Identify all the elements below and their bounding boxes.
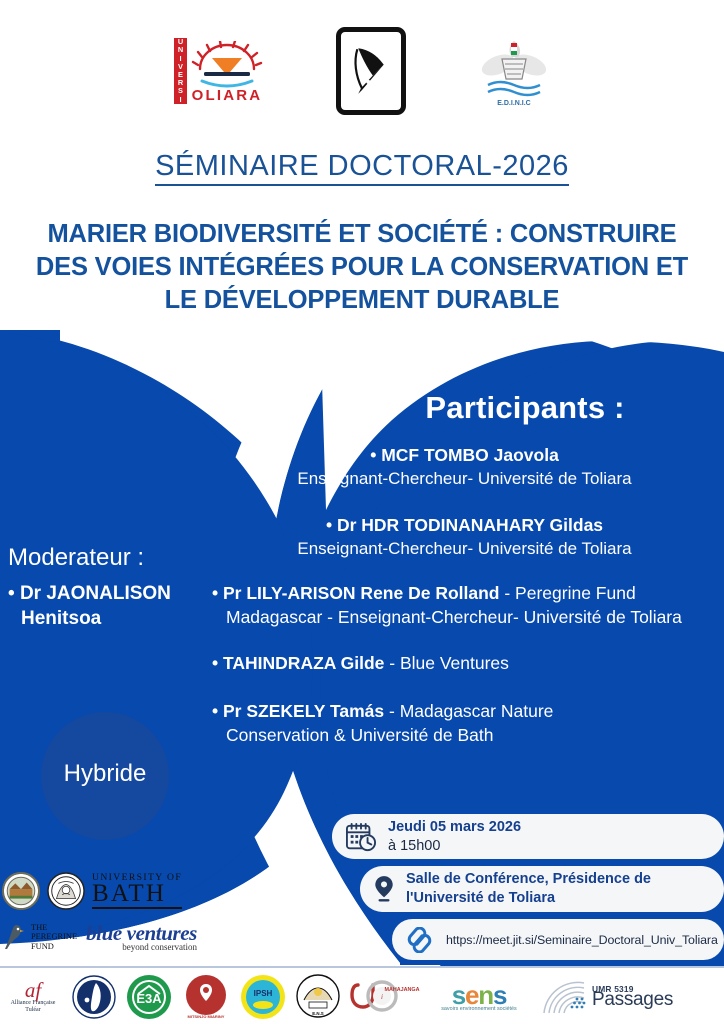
- pen-nib-logo: [336, 27, 406, 115]
- event-location-text: Salle de Conférence, Présidence de l'Uni…: [406, 870, 651, 908]
- participant-affiliation: Enseignant-Chercheur- Université de Toli…: [212, 467, 717, 491]
- event-time: à 15h00: [388, 837, 521, 856]
- svg-text:MAHAJANGA: MAHAJANGA: [384, 987, 419, 993]
- participant-item: Dr HDR TODINANAHARY Gildas Enseignant-Ch…: [212, 513, 717, 561]
- event-location-pill: Salle de Conférence, Présidence de l'Uni…: [360, 866, 724, 912]
- svg-text:E.D.I.N.I.C: E.D.I.N.I.C: [497, 100, 530, 107]
- toliara-vertical-text: UNIVERSI: [174, 38, 187, 104]
- sens-wordmark: sens: [441, 982, 517, 1008]
- e3a-logo: E3A: [126, 974, 172, 1020]
- moderator-name: Dr JAONALISON Henitsoa: [8, 581, 206, 631]
- universite-de-toliara-logo: UNIVERSI OLIARA: [174, 38, 264, 104]
- svg-text:i: i: [381, 993, 383, 1001]
- svg-text:E.N.S: E.N.S: [312, 1011, 324, 1016]
- moderator-block: Moderateur : Dr JAONALISON Henitsoa: [8, 543, 206, 631]
- page-title: MARIER BIODIVERSITÉ ET SOCIÉTÉ : CONSTRU…: [34, 218, 690, 317]
- participant-item: Pr LILY-ARISON Rene De Rolland - Peregri…: [212, 581, 682, 629]
- toliara-wordmark: OLIARA: [192, 87, 263, 104]
- header-logo-row: UNIVERSI OLIARA: [0, 28, 724, 114]
- af-monogram: af: [11, 980, 56, 1000]
- svg-text:MITSINJO MIARINY: MITSINJO MIARINY: [188, 1014, 225, 1019]
- madagascar-circle-logo: [72, 975, 116, 1019]
- link-chain-icon: [405, 927, 435, 953]
- participant-item: TAHINDRAZA Gilde - Blue Ventures: [212, 651, 717, 675]
- event-date-pill: Jeudi 05 mars 2026 à 15h00: [332, 814, 724, 859]
- bath-rule: [92, 907, 182, 909]
- moderator-list: Dr JAONALISON Henitsoa: [8, 581, 206, 631]
- the-peregrine-fund-logo: THE PEREGRINE FUND: [2, 922, 77, 952]
- ipsh-logo: IPSH: [240, 974, 286, 1020]
- edinic-emblem-icon: E.D.I.N.I.C: [478, 35, 550, 107]
- passages-wave-icon: [538, 977, 590, 1017]
- falcon-icon: [2, 922, 28, 952]
- seminar-kicker: SÉMINAIRE DOCTORAL-2026: [0, 150, 724, 183]
- participant-name: Pr LILY-ARISON Rene De Rolland - Peregri…: [212, 581, 682, 629]
- toliara-sun-boat-icon: [190, 41, 264, 89]
- calendar-clock-icon: [345, 822, 377, 852]
- mode-badge: Hybride: [43, 760, 167, 788]
- meeting-link-pill[interactable]: https://meet.jit.si/Seminaire_Doctoral_U…: [392, 919, 724, 960]
- edinic-logo: E.D.I.N.I.C: [478, 35, 550, 107]
- af-line1: Alliance Française: [11, 1000, 56, 1007]
- seminar-kicker-text: SÉMINAIRE DOCTORAL-2026: [155, 150, 569, 186]
- participant-affiliation: Enseignant-Chercheur- Université de Toli…: [212, 537, 717, 561]
- ecole-normale-superieure-logo: E.N.S: [296, 974, 340, 1020]
- af-line2: Tuléar: [11, 1007, 56, 1014]
- partner-logo-strip: af Alliance Française Tuléar: [0, 966, 724, 1024]
- pen-nib-icon: [351, 44, 391, 98]
- participant-item: Pr SZEKELY Tamás - Madagascar Nature Con…: [212, 699, 652, 747]
- bath-big-text: BATH: [92, 881, 182, 906]
- svg-text:E3A: E3A: [136, 991, 162, 1006]
- sens-tagline: savoirs environnement sociétés: [441, 1007, 517, 1012]
- alliance-francaise-tulear-logo: af Alliance Française Tuléar: [4, 980, 62, 1014]
- event-location-line1: Salle de Conférence, Présidence de: [406, 870, 651, 889]
- peregrine-text: THE PEREGRINE FUND: [31, 923, 77, 951]
- event-location-line2: l'Université de Toliara: [406, 889, 651, 908]
- blue-ventures-logo: blue ventures beyond conservation: [86, 923, 197, 952]
- map-pin-icon: [373, 875, 395, 903]
- university-of-bath-seal: [47, 872, 85, 910]
- mitsinjo-logo: MITSINJO MIARINY: [182, 974, 230, 1020]
- event-date-primary: Jeudi 05 mars 2026: [388, 818, 521, 837]
- partner-logos-upper: UNIVERSITY OF BATH THE PEREGRINE FUND: [0, 872, 215, 962]
- svg-text:IPSH: IPSH: [254, 989, 273, 998]
- participants-list: MCF TOMBO Jaovola Enseignant-Chercheur- …: [212, 443, 717, 762]
- umr-passages-logo: UMR 5319 Passages: [538, 977, 673, 1017]
- university-of-bath-wordmark: UNIVERSITY OF BATH: [92, 873, 182, 910]
- participant-name: Dr HDR TODINANAHARY Gildas: [212, 513, 717, 537]
- participant-item: MCF TOMBO Jaovola Enseignant-Chercheur- …: [212, 443, 717, 491]
- meeting-url[interactable]: https://meet.jit.si/Seminaire_Doctoral_U…: [446, 933, 718, 947]
- participant-name: MCF TOMBO Jaovola: [212, 443, 717, 467]
- event-date-text: Jeudi 05 mars 2026 à 15h00: [388, 818, 521, 856]
- participants-title: Participants :: [330, 390, 720, 426]
- blue-ventures-wordmark: blue ventures: [86, 923, 197, 944]
- sens-logo: sens savoirs environnement sociétés: [430, 982, 528, 1012]
- uc-mahajanga-logo: MAHAJANGA i: [350, 975, 420, 1019]
- passages-wordmark: Passages: [592, 990, 673, 1009]
- participant-name: TAHINDRAZA Gilde - Blue Ventures: [212, 651, 717, 675]
- poster-canvas: UNIVERSI OLIARA: [0, 0, 724, 1024]
- madagascar-seal-logo: [2, 872, 40, 910]
- participant-name: Pr SZEKELY Tamás - Madagascar Nature Con…: [212, 699, 652, 747]
- moderator-label: Moderateur :: [8, 543, 206, 573]
